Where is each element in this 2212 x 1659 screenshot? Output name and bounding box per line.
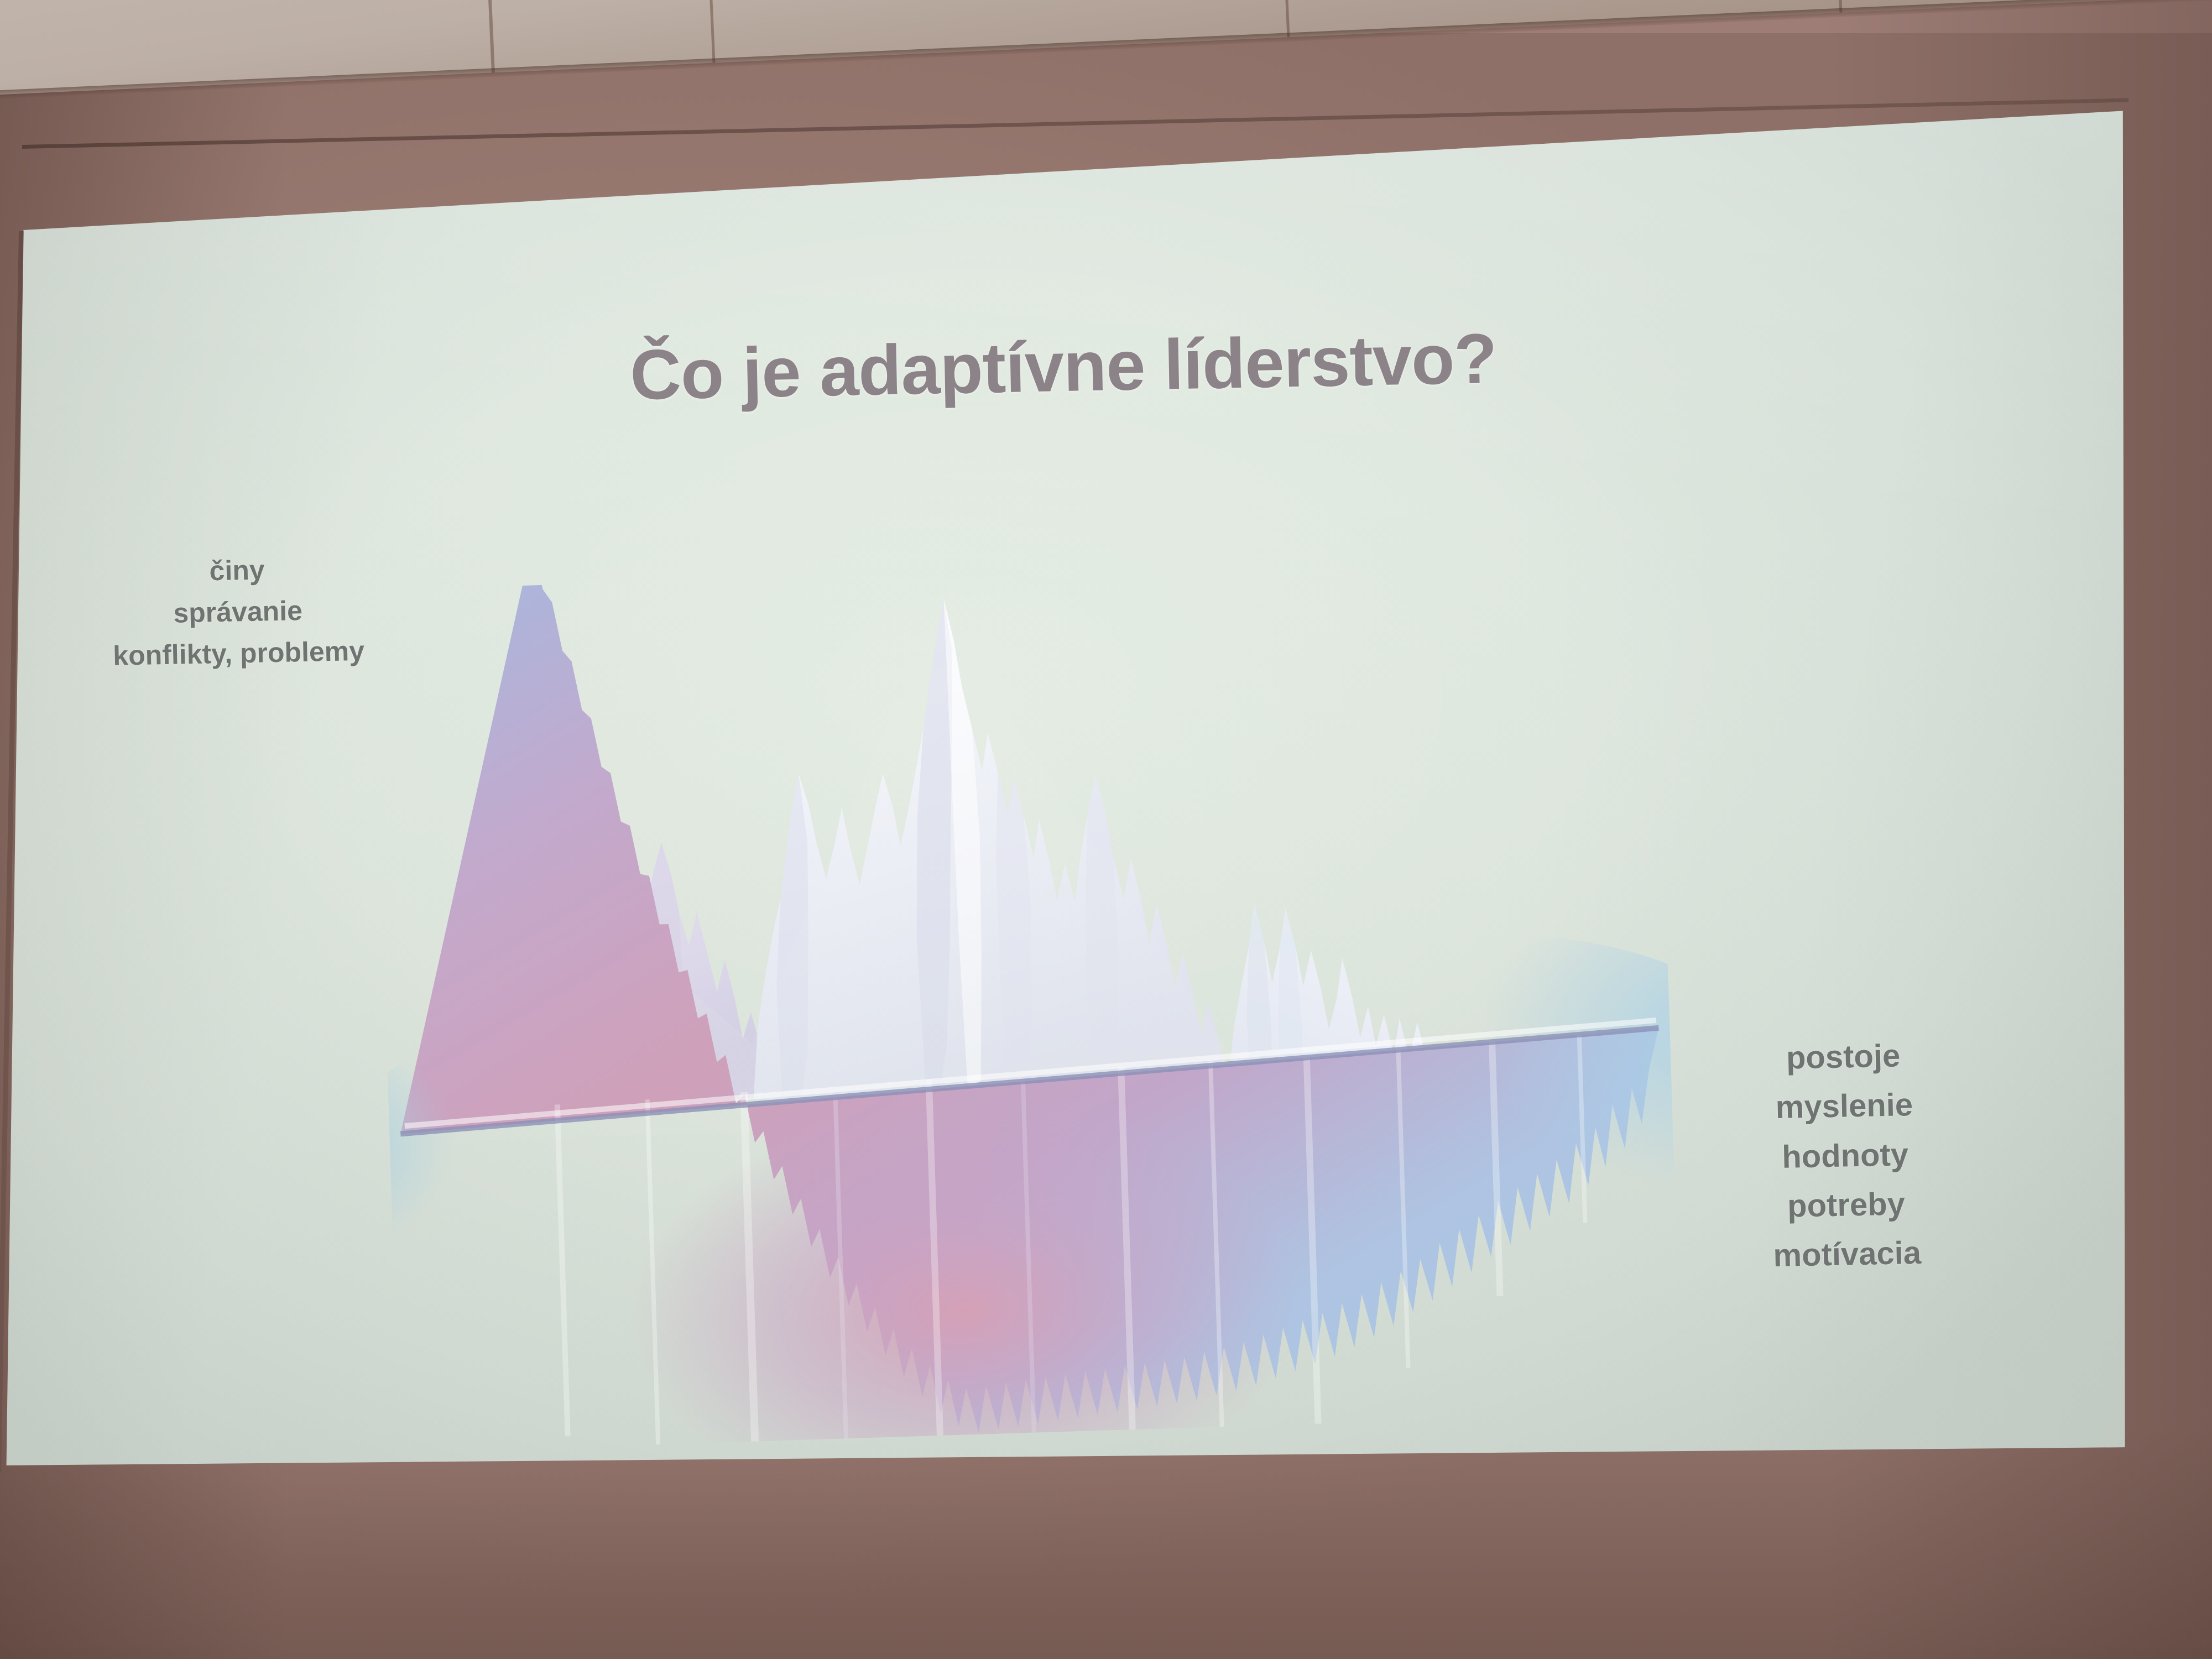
- label-ciny: činy: [68, 546, 406, 594]
- labels-below-waterline: postoje myslenie hodnoty potreby motívac…: [1677, 1029, 2013, 1283]
- iceberg-illustration: [372, 550, 1682, 1453]
- label-postoje: postoje: [1677, 1029, 2010, 1085]
- label-hodnoty: hodnoty: [1679, 1128, 2012, 1183]
- projection-screen: Čo je adaptívne líderstvo? činy správani…: [0, 0, 2212, 1659]
- label-konflikty-problemy: konflikty, problemy: [70, 629, 408, 677]
- page-title: Čo je adaptívne líderstvo?: [0, 306, 2131, 428]
- label-motivacia: motívacia: [1681, 1227, 2013, 1282]
- label-myslenie: myslenie: [1678, 1078, 2011, 1134]
- label-potreby: potreby: [1680, 1177, 2013, 1233]
- iceberg-svg: [372, 550, 1682, 1453]
- label-spravanie: správanie: [69, 588, 406, 636]
- slide-content: Čo je adaptívne líderstvo? činy správani…: [0, 67, 2141, 1481]
- labels-above-waterline: činy správanie konflikty, problemy: [68, 546, 408, 677]
